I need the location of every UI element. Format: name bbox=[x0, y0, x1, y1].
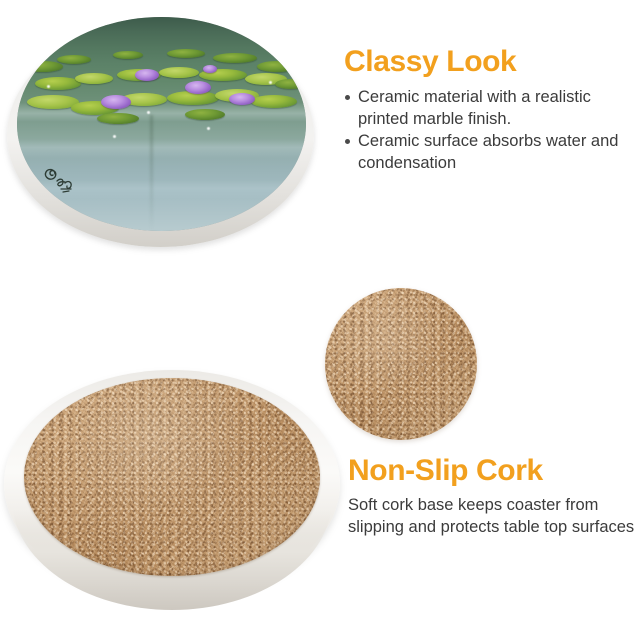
lily-flower bbox=[203, 65, 217, 73]
artist-signature-icon bbox=[41, 165, 85, 199]
lily-pad bbox=[159, 67, 199, 78]
water-vertical-reflection bbox=[150, 115, 153, 231]
bullet-dot-icon bbox=[345, 95, 350, 100]
lily-pad bbox=[75, 73, 113, 84]
feature-block-non-slip-cork: Non-Slip Cork Soft cork base keeps coast… bbox=[348, 455, 636, 539]
water-sparkle bbox=[113, 135, 116, 138]
lily-flower bbox=[135, 69, 159, 81]
coaster-cork-backing bbox=[24, 378, 320, 576]
feature-heading-non-slip-cork: Non-Slip Cork bbox=[348, 455, 636, 486]
lily-flower bbox=[185, 81, 211, 94]
water-sparkle bbox=[47, 85, 50, 88]
lily-flower bbox=[229, 93, 255, 105]
lily-pad bbox=[275, 79, 306, 89]
lily-pad bbox=[257, 61, 297, 72]
feature-bullet-text: Ceramic material with a realistic printe… bbox=[358, 88, 591, 128]
water-sparkle bbox=[147, 111, 150, 114]
lily-pad bbox=[185, 109, 225, 120]
cork-swatch-shading bbox=[325, 288, 477, 440]
feature-bullet-list-classy-look: Ceramic material with a realistic printe… bbox=[344, 87, 636, 174]
lily-pad bbox=[167, 49, 205, 58]
feature-bullet-text: Ceramic surface absorbs water and conden… bbox=[358, 132, 618, 172]
infographic-canvas: Classy Look Ceramic material with a real… bbox=[0, 0, 640, 637]
coaster-cork-base-image bbox=[4, 370, 340, 610]
lily-pad bbox=[113, 51, 143, 59]
coaster-printed-art-face bbox=[17, 17, 306, 231]
feature-heading-classy-look: Classy Look bbox=[344, 46, 636, 77]
cork-backing-shading bbox=[24, 378, 320, 576]
lily-pad bbox=[57, 55, 91, 64]
feature-bullet-item: Ceramic surface absorbs water and conden… bbox=[344, 131, 636, 174]
feature-description-non-slip-cork: Soft cork base keeps coaster from slippi… bbox=[348, 495, 636, 539]
ceramic-coaster-art-face-image bbox=[7, 17, 314, 250]
bullet-dot-icon bbox=[345, 139, 350, 144]
feature-bullet-item: Ceramic material with a realistic printe… bbox=[344, 87, 636, 130]
water-sparkle bbox=[207, 127, 210, 130]
lily-pad bbox=[251, 95, 297, 108]
lily-pad bbox=[97, 113, 139, 124]
lily-pad bbox=[213, 53, 257, 63]
lily-pad bbox=[23, 61, 63, 72]
lily-flower bbox=[101, 95, 131, 109]
water-sparkle bbox=[269, 81, 272, 84]
feature-block-classy-look: Classy Look Ceramic material with a real… bbox=[344, 46, 636, 176]
cork-material-swatch-image bbox=[325, 288, 477, 440]
